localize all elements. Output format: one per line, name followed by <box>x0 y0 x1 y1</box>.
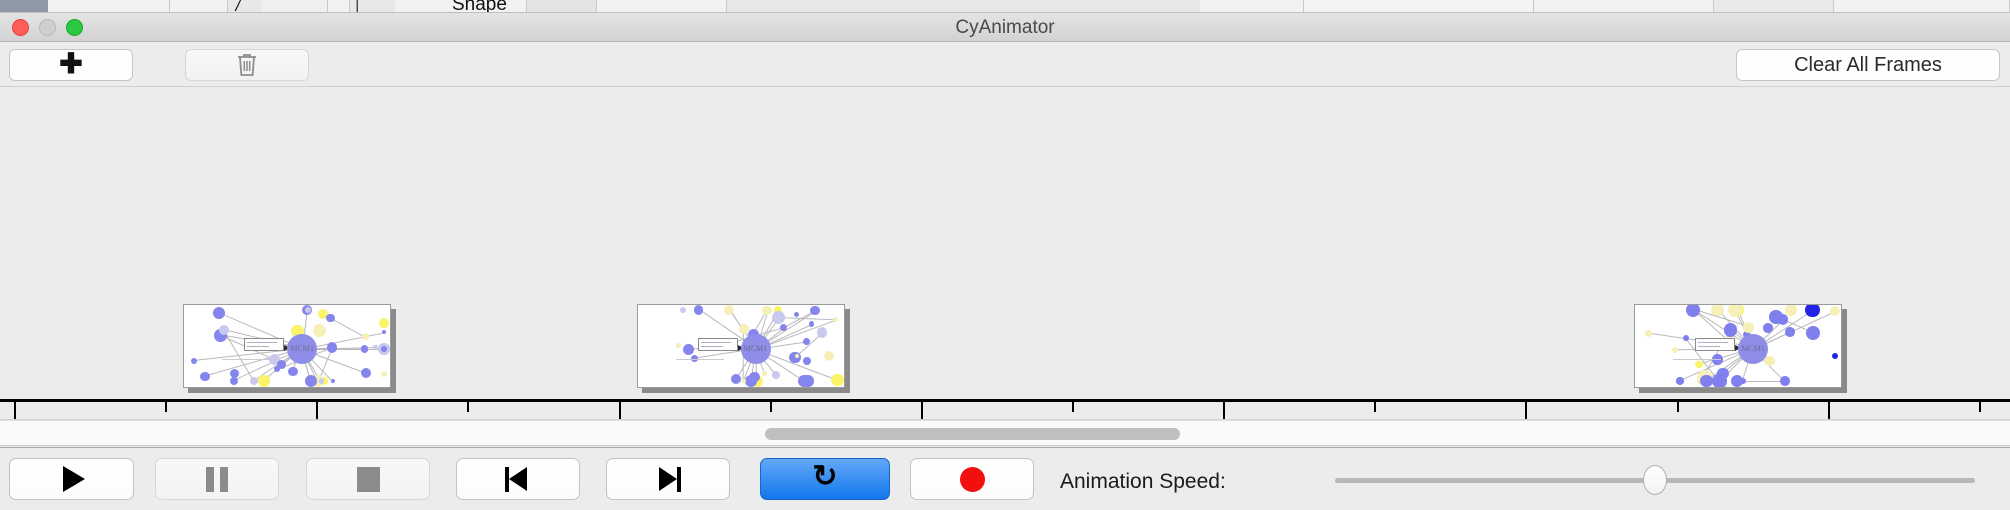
network-edge <box>778 317 835 320</box>
add-frame-button[interactable]: ✚ <box>9 49 133 81</box>
scrollbar-thumb[interactable] <box>765 428 1180 440</box>
network-node <box>762 371 767 376</box>
network-node <box>382 330 386 334</box>
network-node <box>676 343 681 348</box>
network-node <box>1724 323 1738 337</box>
network-node <box>772 371 780 379</box>
network-node <box>1731 375 1743 387</box>
network-tooltip-line <box>247 342 277 343</box>
axis-tick-minor <box>1979 401 1981 412</box>
network-node <box>331 379 335 383</box>
network-node <box>379 318 389 328</box>
network-node <box>1785 327 1795 337</box>
network-node <box>803 357 811 365</box>
clear-all-frames-label: Clear All Frames <box>1794 54 1942 77</box>
network-node <box>1763 323 1772 332</box>
axis-tick-minor <box>165 401 167 412</box>
network-node <box>680 307 686 313</box>
axis-tick-major <box>316 401 318 420</box>
network-node <box>731 374 741 384</box>
record-icon <box>960 467 985 492</box>
network-node <box>831 374 843 386</box>
stop-icon <box>357 467 380 492</box>
network-node <box>726 307 732 313</box>
network-node <box>1717 368 1729 380</box>
network-node <box>1743 322 1754 333</box>
window-title: CyAnimator <box>0 13 2010 42</box>
network-node <box>1700 375 1713 388</box>
title-bar: CyAnimator <box>0 13 2010 42</box>
axis-tick-major <box>14 401 16 420</box>
network-node <box>803 338 810 345</box>
timeline-scrollbar[interactable] <box>0 420 2010 446</box>
plus-icon: ✚ <box>59 50 82 78</box>
network-hub-label: MCM1 <box>1739 344 1767 353</box>
network-tooltip-line <box>1698 346 1720 347</box>
network-edge <box>330 318 365 338</box>
network-tooltip-line <box>1698 342 1728 343</box>
pause-icon <box>206 467 228 492</box>
network-node <box>762 306 771 315</box>
network-node <box>1778 314 1788 324</box>
toolbar: ✚ Clear All Frames <box>0 42 2010 87</box>
network-node <box>288 367 297 376</box>
network-node <box>258 375 269 386</box>
network-node <box>362 333 370 341</box>
play-icon <box>63 466 85 492</box>
keyframe-network-preview[interactable]: MCM1 <box>183 304 391 388</box>
network-node <box>200 372 210 382</box>
network-node <box>1676 377 1683 384</box>
axis-tick-major <box>921 401 923 420</box>
network-node <box>1683 335 1689 341</box>
network-node <box>1785 304 1797 316</box>
network-node <box>1830 306 1840 316</box>
network-tooltip <box>244 338 284 351</box>
network-node <box>1806 326 1820 340</box>
skip-to-start-icon <box>505 467 531 492</box>
skip-to-end-icon <box>655 467 681 492</box>
network-node <box>802 375 814 387</box>
axis-tick-minor <box>770 401 772 412</box>
trash-icon <box>236 52 258 78</box>
axis-tick-minor <box>1072 401 1074 412</box>
keyframe-network-preview[interactable]: MCM1 <box>637 304 845 388</box>
animation-speed-slider-thumb[interactable] <box>1643 465 1667 495</box>
network-tooltip <box>698 338 738 351</box>
network-node <box>809 321 815 327</box>
network-node <box>319 378 324 383</box>
network-node <box>191 358 197 364</box>
network-node <box>810 306 819 315</box>
loop-button[interactable]: ↻ <box>760 458 890 500</box>
skip-to-end-button[interactable] <box>606 458 730 500</box>
network-node <box>772 311 785 324</box>
network-node <box>361 368 371 378</box>
axis-tick-major <box>619 401 621 420</box>
network-node <box>361 345 369 353</box>
network-node <box>1832 353 1838 359</box>
axis-tick-minor <box>1677 401 1679 412</box>
play-button[interactable] <box>9 458 134 500</box>
network-node <box>313 324 326 337</box>
axis-tick-major <box>1223 401 1225 420</box>
network-node <box>230 377 239 386</box>
network-node <box>1780 376 1790 386</box>
network-tooltip <box>1695 338 1735 351</box>
network-hub-label: MCM1 <box>288 344 316 353</box>
animation-speed-slider[interactable] <box>1335 478 1975 483</box>
network-node <box>1645 330 1651 336</box>
stop-button[interactable] <box>306 458 430 500</box>
axis-tick-minor <box>1374 401 1376 412</box>
network-caption-line <box>676 359 724 360</box>
network-node <box>373 345 377 349</box>
network-node <box>1711 304 1724 316</box>
axis-tick-minor <box>467 401 469 412</box>
animation-speed-label: Animation Speed: <box>1060 470 1226 494</box>
keyframe-thumbnail[interactable]: MCM1 <box>1634 304 1842 388</box>
network-node <box>219 325 229 335</box>
delete-frame-button[interactable] <box>185 49 309 81</box>
keyframe-thumbnail[interactable]: MCM1 <box>183 304 391 388</box>
network-node <box>277 360 286 369</box>
network-caption-line <box>1673 359 1721 360</box>
network-node <box>381 371 388 378</box>
record-button[interactable] <box>910 458 1034 500</box>
network-edge <box>1743 381 1785 382</box>
skip-to-start-button[interactable] <box>456 458 580 500</box>
network-node <box>694 305 703 314</box>
network-node <box>794 312 799 317</box>
axis-tick-major <box>1828 401 1830 420</box>
network-tooltip-line <box>701 342 731 343</box>
clear-all-frames-button[interactable]: Clear All Frames <box>1736 49 2000 81</box>
axis-tick-major <box>1525 401 1527 420</box>
cyanimator-window: 7 | Shape CyAnimator ✚ <box>0 0 2010 510</box>
network-node <box>250 377 259 386</box>
network-node <box>817 327 828 338</box>
network-node <box>833 317 838 322</box>
network-tooltip-line <box>701 346 723 347</box>
network-node <box>305 307 311 313</box>
network-node <box>1672 347 1678 353</box>
playback-control-bar: ↻ Animation Speed: <box>0 447 2010 510</box>
network-node <box>213 307 225 319</box>
pause-button[interactable] <box>155 458 279 500</box>
network-hub-label: MCM1 <box>742 344 770 353</box>
network-node <box>1805 304 1820 317</box>
timeline-panel[interactable]: MCM1MCM1MCM1 2131415161718 Seconds <box>0 88 2010 420</box>
timeline-axis-line <box>0 399 2010 402</box>
loop-icon: ↻ <box>812 462 837 492</box>
network-node <box>326 314 334 322</box>
keyframe-network-preview[interactable]: MCM1 <box>1634 304 1842 388</box>
network-node <box>1695 361 1703 369</box>
network-node <box>824 351 834 361</box>
keyframe-thumbnail[interactable]: MCM1 <box>637 304 845 388</box>
network-tooltip-line <box>247 346 269 347</box>
network-node <box>683 344 694 355</box>
network-caption-line <box>222 359 270 360</box>
network-node <box>381 346 387 352</box>
network-node <box>327 342 338 353</box>
